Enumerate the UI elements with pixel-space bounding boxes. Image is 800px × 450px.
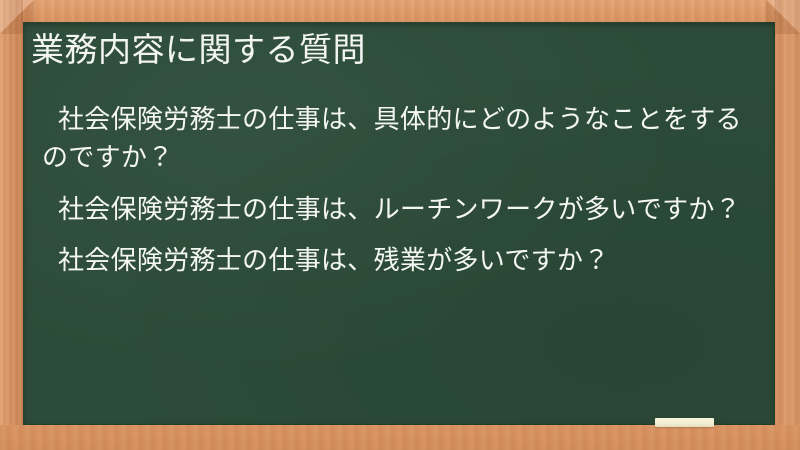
question-item: 社会保険労務士の仕事は、ルーチンワークが多いですか？: [42, 190, 757, 228]
frame-left-rail: [0, 0, 23, 450]
frame-bottom-ledge: [0, 425, 800, 450]
frame-right-rail: [775, 0, 800, 450]
chalkboard-surface: 業務内容に関する質問 社会保険労務士の仕事は、具体的にどのようなことをするのです…: [23, 22, 775, 425]
chalkboard-slide: 業務内容に関する質問 社会保険労務士の仕事は、具体的にどのようなことをするのです…: [0, 0, 800, 450]
question-list: 社会保険労務士の仕事は、具体的にどのようなことをするのですか？ 社会保険労務士の…: [42, 100, 757, 280]
question-item: 社会保険労務士の仕事は、具体的にどのようなことをするのですか？: [42, 100, 757, 177]
chalk-stick: [655, 418, 714, 427]
frame-top-rail: [0, 0, 800, 22]
question-item: 社会保険労務士の仕事は、残業が多いですか？: [42, 241, 757, 279]
page-title: 業務内容に関する質問: [31, 30, 366, 70]
